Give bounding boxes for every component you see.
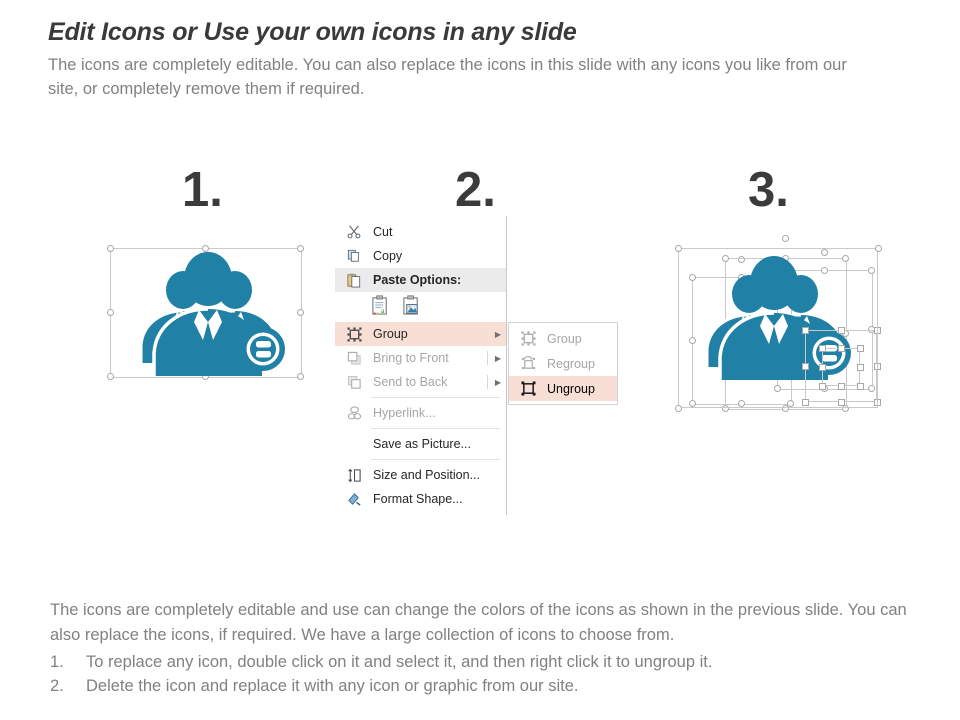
footer-instruction-list: 1. To replace any icon, double click on … <box>50 650 930 700</box>
hyperlink-icon <box>343 404 365 422</box>
menu-item-label: Paste Options: <box>373 273 506 287</box>
divider <box>487 375 488 389</box>
list-item: 1. To replace any icon, double click on … <box>50 650 930 675</box>
regroup-icon <box>517 355 539 373</box>
chevron-right-icon: ▶ <box>492 330 504 339</box>
scissors-icon <box>343 223 365 241</box>
menu-item-copy[interactable]: Copy <box>335 244 506 268</box>
footer: The icons are completely editable and us… <box>50 598 930 699</box>
header: Edit Icons or Use your own icons in any … <box>48 18 928 102</box>
resize-handle-nw[interactable] <box>107 245 114 252</box>
menu-item-format-shape[interactable]: Format Shape... <box>335 487 506 511</box>
list-item: 2. Delete the icon and replace it with a… <box>50 674 930 699</box>
bring-to-front-icon <box>343 349 365 367</box>
context-menu[interactable]: Cut Copy Paste Options: <box>335 216 507 515</box>
group-icon <box>517 330 539 348</box>
list-item-text: To replace any icon, double click on it … <box>86 650 712 675</box>
group-submenu[interactable]: Group Regroup <box>508 322 618 405</box>
step-number-1: 1. <box>182 166 223 215</box>
resize-handle-w[interactable] <box>107 309 114 316</box>
menu-item-label: Save as Picture... <box>373 437 506 451</box>
submenu-item-group: Group <box>509 326 617 351</box>
paste-options-icon-row[interactable]: a <box>335 292 506 322</box>
menu-item-group[interactable]: Group ▶ <box>335 322 506 346</box>
menu-item-cut[interactable]: Cut <box>335 220 506 244</box>
copy-pages-icon <box>343 247 365 265</box>
menu-item-size-and-position[interactable]: Size and Position... <box>335 463 506 487</box>
ungroup-icon <box>517 380 539 398</box>
menu-item-paste-options: Paste Options: <box>335 268 506 292</box>
menu-item-label: Copy <box>373 249 506 263</box>
clipboard-icon <box>343 271 365 289</box>
resize-handle-se[interactable] <box>297 373 304 380</box>
menu-item-bring-to-front: Bring to Front ▶ <box>335 346 506 370</box>
resize-handle-ne[interactable] <box>875 245 882 252</box>
footer-paragraph: The icons are completely editable and us… <box>50 598 930 648</box>
list-item-text: Delete the icon and replace it with any … <box>86 674 579 699</box>
resize-handle-e[interactable] <box>297 309 304 316</box>
menu-item-label: Format Shape... <box>373 492 506 506</box>
menu-item-label: Bring to Front <box>373 351 487 365</box>
menu-item-send-to-back: Send to Back ▶ <box>335 370 506 394</box>
none-icon <box>343 435 365 453</box>
selection-frame-group-bounds[interactable] <box>678 248 878 408</box>
resize-handle-ne[interactable] <box>297 245 304 252</box>
list-item-number: 2. <box>50 674 86 699</box>
menu-item-label: Cut <box>373 225 506 239</box>
resize-handle-sw[interactable] <box>675 405 682 412</box>
menu-item-label: Hyperlink... <box>373 406 506 420</box>
menu-separator <box>371 397 500 398</box>
chevron-right-icon: ▶ <box>492 378 504 387</box>
group-icon <box>343 325 365 343</box>
divider <box>487 351 488 365</box>
paste-picture-icon[interactable] <box>402 295 421 319</box>
submenu-item-label: Regroup <box>547 357 617 371</box>
list-item-number: 1. <box>50 650 86 675</box>
paste-keep-text-icon[interactable]: a <box>371 295 390 319</box>
intro-paragraph: The icons are completely editable. You c… <box>48 53 878 102</box>
step-number-3: 3. <box>748 166 789 215</box>
menu-separator <box>371 428 500 429</box>
size-position-icon <box>343 466 365 484</box>
menu-item-label: Group <box>373 327 492 341</box>
submenu-item-label: Group <box>547 332 617 346</box>
menu-item-label: Send to Back <box>373 375 487 389</box>
chevron-right-icon: ▶ <box>492 354 504 363</box>
submenu-item-label: Ungroup <box>547 382 617 396</box>
format-shape-icon <box>343 490 365 508</box>
resize-handle-sw[interactable] <box>107 373 114 380</box>
submenu-item-ungroup[interactable]: Ungroup <box>509 376 617 401</box>
resize-handle-n[interactable] <box>202 245 209 252</box>
menu-item-hyperlink: Hyperlink... <box>335 401 506 425</box>
submenu-item-regroup: Regroup <box>509 351 617 376</box>
people-group-badge-icon-step-1[interactable] <box>120 252 295 377</box>
resize-handle-nw[interactable] <box>675 245 682 252</box>
page-title: Edit Icons or Use your own icons in any … <box>48 18 928 47</box>
menu-item-label: Size and Position... <box>373 468 506 482</box>
menu-separator <box>371 459 500 460</box>
rotate-handle[interactable] <box>782 235 789 242</box>
send-to-back-icon <box>343 373 365 391</box>
step-number-2: 2. <box>455 166 496 215</box>
menu-item-save-as-picture[interactable]: Save as Picture... <box>335 432 506 456</box>
